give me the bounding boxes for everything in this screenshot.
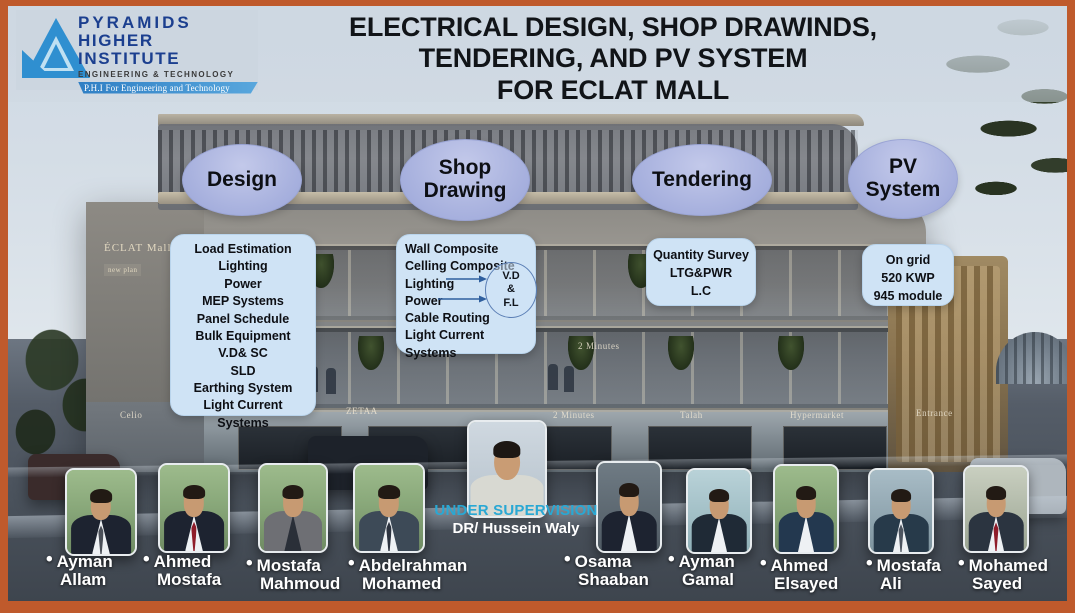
team-member-name: •MostafaMahmoud <box>246 554 340 594</box>
bubble-pv-line-2: System <box>866 178 941 201</box>
panel-design-item: Lighting <box>171 258 315 275</box>
avatar-mohamed-sayed[interactable] <box>963 465 1029 553</box>
bullet-icon: • <box>46 549 53 570</box>
team-last-name: Mahmoud <box>260 575 340 593</box>
callout-line-3: F.L <box>503 297 518 310</box>
panel-design: Load Estimation Lighting Power MEP Syste… <box>170 234 316 416</box>
team-member-name: •MostafaAli <box>866 554 941 594</box>
bubble-shop-line-2: Drawing <box>424 179 507 202</box>
mall-dome <box>996 332 1067 384</box>
team-member-name: •AymanGamal <box>668 550 735 590</box>
logo-line-2: HIGHER INSTITUTE <box>78 32 258 68</box>
bullet-icon: • <box>246 553 253 574</box>
team-last-name: Allam <box>60 571 113 589</box>
team-first-name: Mostafa <box>877 556 941 575</box>
store-tag: 2 Minutes <box>578 341 620 351</box>
bullet-icon: • <box>348 553 355 574</box>
bubble-design-label: Design <box>207 169 277 192</box>
figure-silhouette <box>564 366 574 392</box>
bubble-shop-line-1: Shop <box>439 156 492 179</box>
team-member-name: •OsamaShaaban <box>564 550 649 590</box>
avatar-abdelrahman-mohamed[interactable] <box>353 463 425 553</box>
avatar-mostafa-ali[interactable] <box>868 468 934 554</box>
bubble-design[interactable]: Design <box>182 144 302 216</box>
logo-line-1: PYRAMIDS <box>78 14 258 32</box>
callout-line-1: V.D <box>502 270 519 283</box>
mall-name-sign: ÉCLAT Mall <box>104 242 172 254</box>
bubble-pv-line-1: PV <box>889 155 917 178</box>
panel-tendering-item: LTG&PWR <box>647 264 755 282</box>
panel-tendering-item: L.C <box>647 282 755 300</box>
panel-design-item: Load Estimation <box>171 241 315 258</box>
store-tag: Talah <box>680 410 703 420</box>
team-member-name: •AymanAllam <box>46 550 113 590</box>
panel-design-item: Systems <box>171 415 315 432</box>
team-last-name: Gamal <box>682 571 735 589</box>
team-last-name: Sayed <box>972 575 1048 593</box>
team-member-name: •MohamedSayed <box>958 554 1048 594</box>
team-first-name: Mohamed <box>969 556 1048 575</box>
panel-design-item: Bulk Equipment <box>171 328 315 345</box>
panel-pv-item: 520 KWP <box>863 269 953 287</box>
bubble-tendering[interactable]: Tendering <box>632 144 772 216</box>
callout-vd-fl: V.D & F.L <box>485 262 537 318</box>
panel-shop-item: Wall Composite <box>405 241 535 258</box>
store-tag: Entrance <box>916 408 953 418</box>
panel-design-item: Power <box>171 276 315 293</box>
bubble-tendering-label: Tendering <box>652 169 752 192</box>
team-first-name: Osama <box>575 552 632 571</box>
panel-design-item: SLD <box>171 363 315 380</box>
team-first-name: Ayman <box>679 552 735 571</box>
title-line-2: TENDERING, AND PV SYSTEM <box>263 43 963 74</box>
panel-shop-item: Light Current <box>405 327 535 344</box>
arrow-lighting-to-vdfl <box>446 274 488 284</box>
store-tag: ZETAA <box>346 406 378 416</box>
panel-pv-system: On grid 520 KWP 945 module <box>862 244 954 306</box>
panel-tendering: Quantity Survey LTG&PWR L.C <box>646 238 756 306</box>
bullet-icon: • <box>958 553 965 574</box>
institute-logo: PYRAMIDS HIGHER INSTITUTE ENGINEERING & … <box>16 10 258 90</box>
title-line-1: ELECTRICAL DESIGN, SHOP DRAWINDS, <box>263 12 963 43</box>
avatar-ayman-allam[interactable] <box>65 468 137 556</box>
logo-line-3: ENGINEERING & TECHNOLOGY <box>78 70 258 79</box>
store-tag: Hypermarket <box>790 410 844 420</box>
team-first-name: Abdelrahman <box>359 556 468 575</box>
bullet-icon: • <box>668 549 675 570</box>
bubble-shop-drawing-label: Shop Drawing <box>424 157 507 202</box>
figure-silhouette <box>326 368 336 394</box>
planter-plant <box>778 336 804 370</box>
team-last-name: Mohamed <box>362 575 467 593</box>
title-line-3: FOR ECLAT MALL <box>263 75 963 106</box>
panel-design-item: Light Current <box>171 397 315 414</box>
logo-text-block: PYRAMIDS HIGHER INSTITUTE ENGINEERING & … <box>78 14 258 94</box>
team-first-name: Ayman <box>57 552 113 571</box>
bubble-shop-drawing[interactable]: Shop Drawing <box>400 139 530 221</box>
team-member-name: •AhmedElsayed <box>760 554 838 594</box>
bullet-icon: • <box>760 553 767 574</box>
arrow-power-to-vdfl <box>438 294 488 304</box>
avatar-ahmed-mostafa[interactable] <box>158 463 230 553</box>
panel-design-item: Earthing System <box>171 380 315 397</box>
planter-plant <box>668 336 694 370</box>
bullet-icon: • <box>564 549 571 570</box>
team-last-name: Elsayed <box>774 575 838 593</box>
bubble-pv-label: PV System <box>866 156 941 201</box>
panel-pv-item: On grid <box>863 251 953 269</box>
bullet-icon: • <box>866 553 873 574</box>
figure-silhouette <box>548 364 558 390</box>
bullet-icon: • <box>143 549 150 570</box>
slide-canvas: ÉCLAT Mall new plan Celio MIX Zara ZETAA… <box>8 6 1067 601</box>
team-member-name: •AbdelrahmanMohamed <box>348 554 467 594</box>
store-tag: 2 Minutes <box>553 410 595 420</box>
team-member-name: •AhmedMostafa <box>143 550 221 590</box>
page-title: ELECTRICAL DESIGN, SHOP DRAWINDS, TENDER… <box>263 12 963 106</box>
callout-line-2: & <box>507 283 515 296</box>
team-first-name: Ahmed <box>154 552 212 571</box>
panel-shop-item: Systems <box>405 345 535 362</box>
supervision-block: UNDER SUPERVISION DR/ Hussein Waly <box>426 502 606 537</box>
panel-design-item: V.D& SC <box>171 345 315 362</box>
panel-pv-item: 945 module <box>863 287 953 305</box>
team-first-name: Ahmed <box>771 556 829 575</box>
mall-sub-sign: new plan <box>104 264 141 276</box>
team-last-name: Mostafa <box>157 571 221 589</box>
bubble-pv-system[interactable]: PV System <box>848 139 958 219</box>
panel-tendering-item: Quantity Survey <box>647 246 755 264</box>
avatar-mostafa-mahmoud[interactable] <box>258 463 328 553</box>
team-last-name: Ali <box>880 575 941 593</box>
avatar-ayman-gamal[interactable] <box>686 468 752 554</box>
supervisor-name: DR/ Hussein Waly <box>426 520 606 537</box>
panel-design-item: MEP Systems <box>171 293 315 310</box>
logo-ribbon: P.H.I For Engineering and Technology <box>78 82 258 94</box>
presentation-slide: ÉCLAT Mall new plan Celio MIX Zara ZETAA… <box>0 0 1075 613</box>
team-last-name: Shaaban <box>578 571 649 589</box>
supervision-label: UNDER SUPERVISION <box>426 502 606 519</box>
panel-design-item: Panel Schedule <box>171 311 315 328</box>
team-first-name: Mostafa <box>257 556 321 575</box>
planter-plant <box>358 336 384 370</box>
avatar-ahmed-elsayed[interactable] <box>773 464 839 554</box>
store-tag: Celio <box>120 410 143 420</box>
